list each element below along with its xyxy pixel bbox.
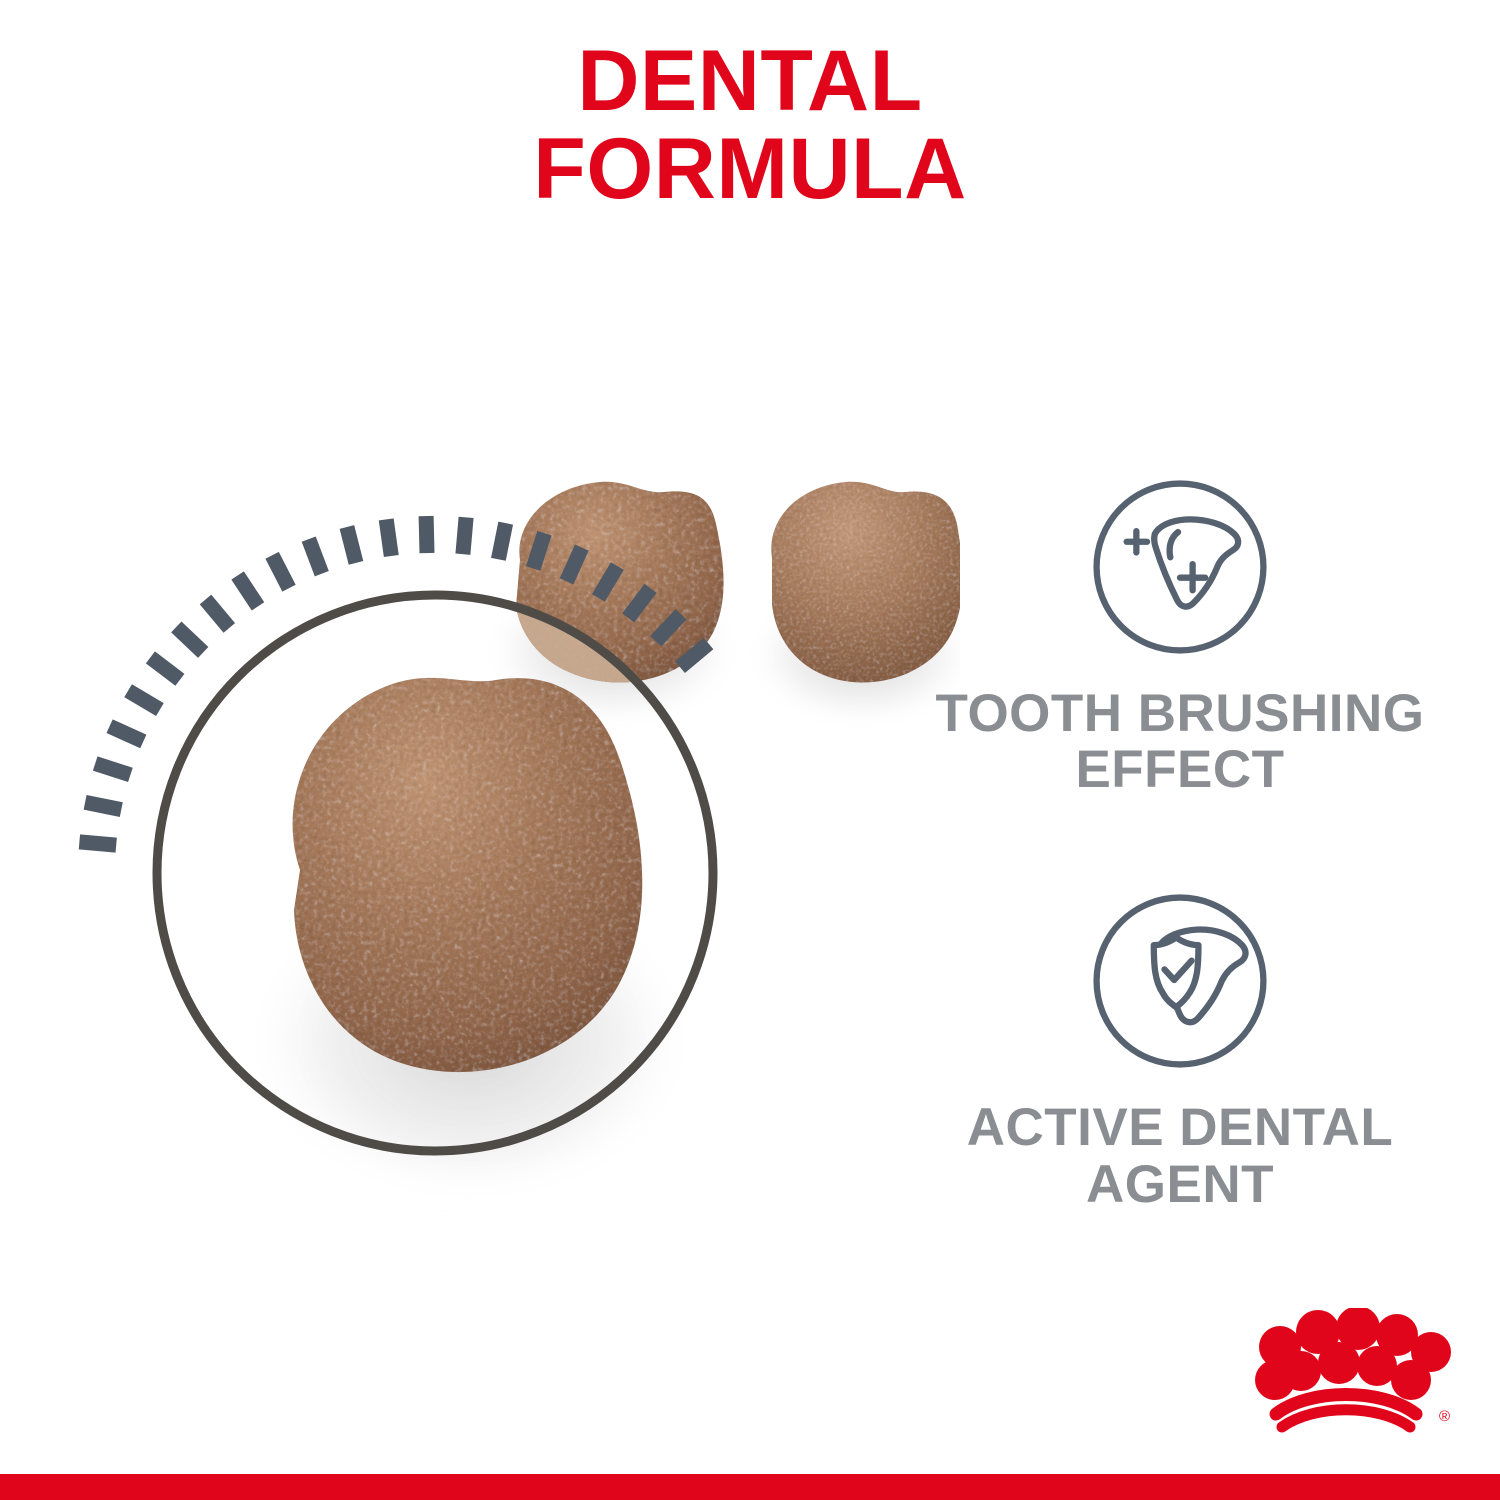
ring-tick — [309, 539, 322, 574]
ring-tick — [386, 519, 391, 556]
footer-accent-bar — [0, 1474, 1500, 1500]
royal-canin-crown-logo: ® — [1236, 1308, 1456, 1438]
tooth-brushing-icon — [1083, 470, 1277, 664]
ring-tick — [498, 523, 505, 559]
tooth-shield-check-icon — [1083, 884, 1277, 1078]
trademark-symbol: ® — [1439, 1408, 1450, 1425]
ring-tick — [347, 527, 356, 563]
sparkle-plus-lower — [1180, 564, 1205, 590]
ring-tick — [79, 842, 116, 845]
ring-tick — [150, 657, 180, 679]
product-feature-panel: DENTAL FORMULA — [0, 0, 1500, 1500]
benefit-active-dental-agent: ACTIVE DENTAL AGENT — [860, 884, 1500, 1212]
benefits-list: TOOTH BRUSHING EFFECT ACTIVE DENTAL AGEN… — [860, 470, 1500, 1213]
ring-tick — [85, 802, 121, 809]
ring-tick — [206, 600, 230, 628]
crown-base-arcs — [1276, 1395, 1416, 1428]
kibble-size-illustration — [0, 400, 960, 1240]
crown-logo-svg: ® — [1236, 1308, 1456, 1438]
kibble-illustration-svg — [0, 400, 960, 1240]
shield-check — [1154, 938, 1199, 1008]
crown-dots — [1255, 1308, 1451, 1400]
sparkle-plus-upper — [1127, 531, 1147, 552]
benefit-label: ACTIVE DENTAL AGENT — [900, 1100, 1460, 1212]
benefit-label: TOOTH BRUSHING EFFECT — [900, 686, 1460, 798]
ring-tick — [463, 517, 466, 554]
ring-tick — [176, 627, 203, 653]
page-title: DENTAL FORMULA — [0, 38, 1500, 213]
ring-tick — [128, 691, 160, 710]
ring-tick — [238, 576, 258, 607]
ring-tick — [95, 764, 130, 775]
ring-tick — [272, 555, 289, 588]
benefit-tooth-brushing: TOOTH BRUSHING EFFECT — [860, 470, 1500, 798]
ring-tick — [110, 726, 144, 741]
ring-tick — [426, 516, 427, 553]
kibble-large-front — [293, 678, 643, 1072]
